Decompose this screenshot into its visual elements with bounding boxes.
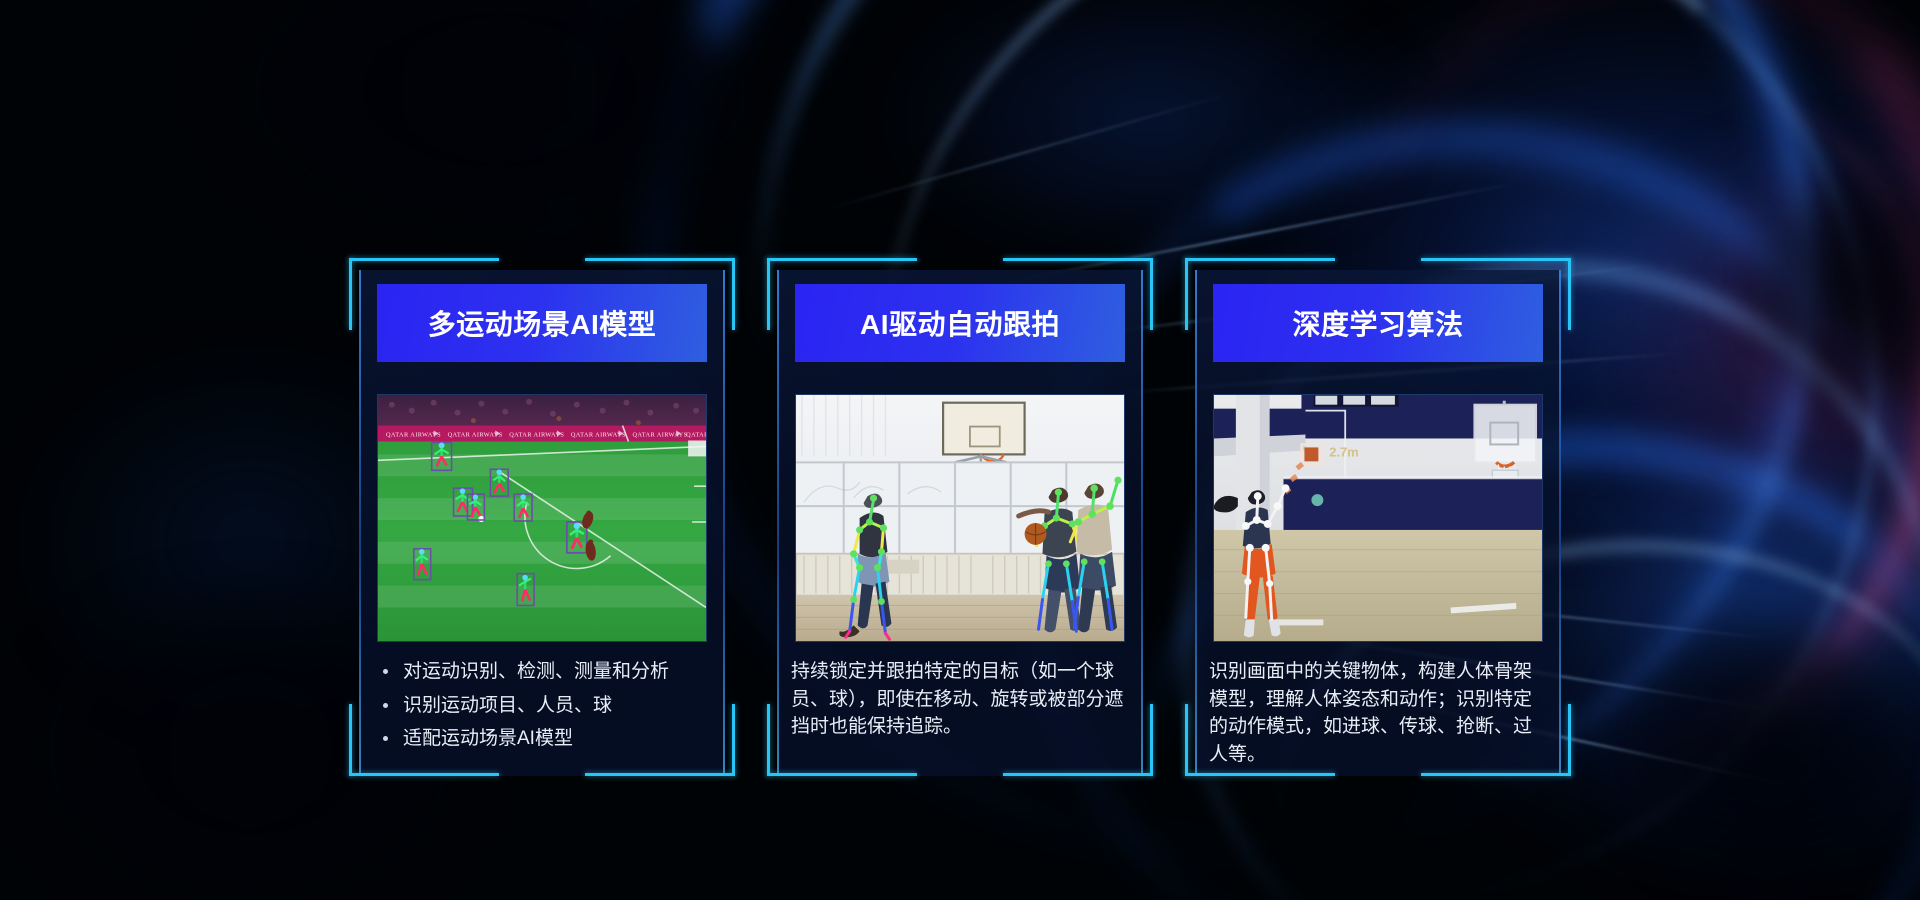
card-body: 识别画面中的关键物体，构建人体骨架模型，理解人体姿态和动作；识别特定的动作模式，… (1209, 658, 1549, 768)
distance-label: 2.7m (1329, 444, 1358, 459)
card-body: 持续锁定并跟拍特定的目标（如一个球员、球），即使在移动、旋转或被部分遮挡时也能保… (791, 658, 1131, 741)
card-border-left (777, 270, 779, 776)
gym-basketball-pose-image (795, 394, 1125, 642)
basketball-shot-distance-image: 2.7m (1213, 394, 1543, 642)
soccer-pitch-detection-image: QATAR AIRWAYSQATAR AIRWAYS QATAR AIRWAYS… (377, 394, 707, 642)
list-item: 对运动识别、检测、测量和分析 (377, 658, 711, 686)
svg-text:QATAR AIRWAYS: QATAR AIRWAYS (571, 431, 626, 438)
card-title: 多运动场景AI模型 (377, 284, 707, 362)
svg-text:QATAR AIRWAYS: QATAR AIRWAYS (386, 431, 441, 438)
card-paragraph: 识别画面中的关键物体，构建人体骨架模型，理解人体姿态和动作；识别特定的动作模式，… (1209, 658, 1549, 768)
card-border-right (723, 270, 725, 776)
card-border-right (1141, 270, 1143, 776)
feature-bullet-list: 对运动识别、检测、测量和分析 识别运动项目、人员、球 适配运动场景AI模型 (377, 658, 711, 753)
feature-card-ai-auto-tracking[interactable]: AI驱动自动跟拍 (767, 258, 1153, 776)
card-border-right (1559, 270, 1561, 776)
card-title: 深度学习算法 (1213, 284, 1543, 362)
feature-card-multi-sport-ai-model[interactable]: 多运动场景AI模型 (349, 258, 735, 776)
card-body: 对运动识别、检测、测量和分析 识别运动项目、人员、球 适配运动场景AI模型 (377, 658, 711, 759)
card-paragraph: 持续锁定并跟拍特定的目标（如一个球员、球），即使在移动、旋转或被部分遮挡时也能保… (791, 658, 1131, 741)
list-item: 识别运动项目、人员、球 (377, 692, 711, 720)
feature-card-deep-learning-algorithm[interactable]: 深度学习算法 (1185, 258, 1571, 776)
card-title: AI驱动自动跟拍 (795, 284, 1125, 362)
card-border-left (1195, 270, 1197, 776)
list-item: 适配运动场景AI模型 (377, 725, 711, 753)
svg-text:QATAR AIRWAYS: QATAR AIRWAYS (448, 431, 503, 438)
svg-text:QATAR: QATAR (686, 431, 706, 438)
svg-text:QATAR AIRWAYS: QATAR AIRWAYS (509, 431, 564, 438)
feature-card-row: 多运动场景AI模型 (0, 0, 1920, 900)
card-border-left (359, 270, 361, 776)
